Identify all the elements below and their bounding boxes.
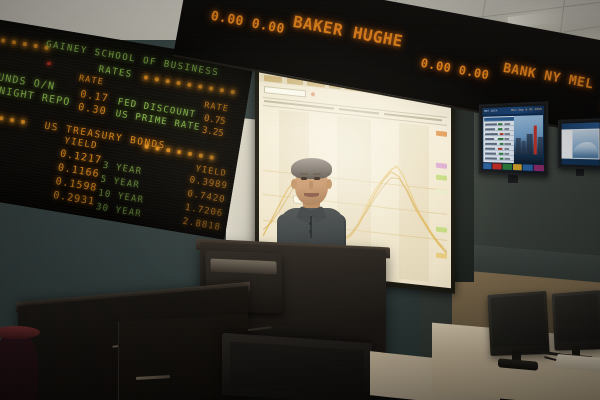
rate-value-2: 0.75 xyxy=(203,114,226,127)
foreground-monitor[interactable] xyxy=(222,333,372,400)
workstation-monitor-1-screen xyxy=(490,294,546,347)
ticker-name-bank-ny-mellon: BANK NY MEL xyxy=(502,61,595,92)
chart-tag-5 xyxy=(436,227,447,233)
chart-tag-6 xyxy=(436,253,447,259)
rate-value-3: 3.25 xyxy=(201,126,224,139)
podium-power-led xyxy=(47,62,51,65)
wall-tv-left: MKT DATA Mon Sep 8 03 2015 xyxy=(479,101,548,176)
rate-value-1: 0.30 xyxy=(77,102,107,118)
tv-market-table xyxy=(483,116,514,163)
rate-column-header-left: RATE xyxy=(78,74,105,88)
foreground-monitor-screen xyxy=(230,341,364,396)
presenter-hair xyxy=(291,158,332,179)
wall-tv-right-screen xyxy=(562,122,600,165)
rate-column-header-right: RATE xyxy=(203,101,229,115)
led-dot-row-bonds-right xyxy=(144,144,214,159)
tv-header-bar: MKT DATA Mon Sep 8 03 2015 xyxy=(482,106,544,115)
tv-right-sidebar xyxy=(562,130,572,158)
bond-value-r-2: 1.7206 xyxy=(184,203,224,219)
stool xyxy=(0,330,38,400)
workstation-monitor-1[interactable] xyxy=(487,291,549,356)
chart-tag-2 xyxy=(436,163,447,169)
ticker-value-0: 0.00 0.00 xyxy=(209,9,285,37)
terminal-command-input[interactable] xyxy=(264,86,306,98)
bond-label-r-3: 30 YEAR xyxy=(95,202,142,220)
led-dot-row-rates xyxy=(144,75,235,94)
bond-value-r-3: 2.8818 xyxy=(182,217,222,233)
podium-monitor-screen xyxy=(210,259,276,275)
led-dot-row-top xyxy=(0,33,49,50)
tv-right-chart xyxy=(572,130,598,159)
workstation-monitor-2-screen xyxy=(555,293,600,341)
ticker-name-baker-hughes: BAKER HUGHE xyxy=(292,12,405,51)
wall-tv-right xyxy=(558,118,600,170)
ticker-value-1: 0.00 0.00 xyxy=(420,56,491,82)
chart-tag-3 xyxy=(436,175,447,181)
bond-value-r-1: 0.7420 xyxy=(187,189,227,205)
chart-tag-4 xyxy=(436,189,447,195)
tv-channel-label: MKT DATA xyxy=(484,109,497,113)
terminal-status-dot xyxy=(311,92,315,96)
tv-bottom-ticker xyxy=(482,162,544,172)
tv-skyline-video xyxy=(514,115,543,164)
tv-timestamp: Mon Sep 8 03 2015 xyxy=(511,107,542,112)
bond-label-r-1: 5 YEAR xyxy=(100,175,141,191)
presenter-smile xyxy=(304,193,319,197)
led-dot-row-bonds-left xyxy=(0,109,25,124)
wall-tv-left-screen: MKT DATA Mon Sep 8 03 2015 xyxy=(482,106,544,173)
workstation-monitor-2[interactable] xyxy=(552,290,600,350)
chart-tag-1 xyxy=(436,131,447,137)
trading-room-photo: GAINEY SCHOOL OF BUSINESS RATES RATE FED… xyxy=(0,0,600,400)
